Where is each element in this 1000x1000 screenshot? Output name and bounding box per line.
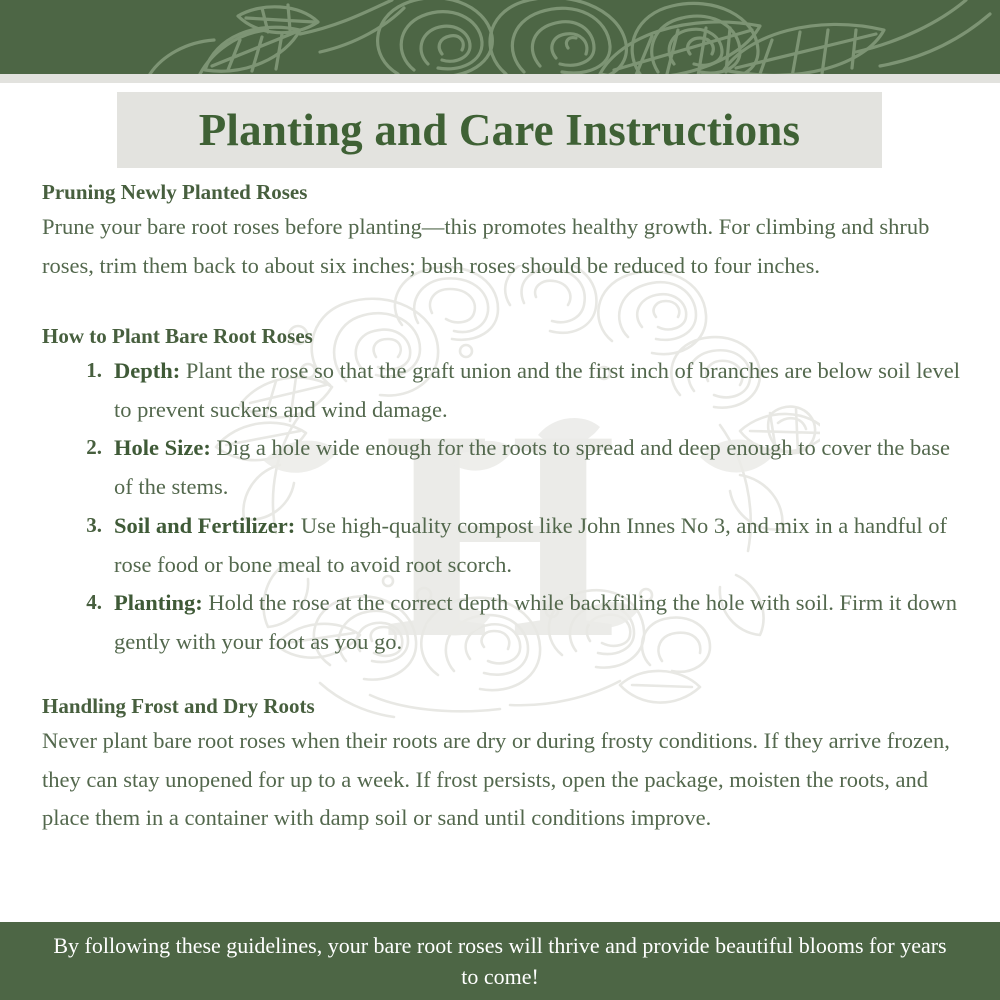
section-spacer-1 — [42, 286, 967, 322]
section-heading-pruning: Pruning Newly Planted Roses — [42, 178, 967, 206]
planting-steps-list: Depth: Plant the rose so that the graft … — [42, 352, 967, 662]
list-item: Depth: Plant the rose so that the graft … — [42, 352, 967, 429]
page-title-box: Planting and Care Instructions — [117, 92, 882, 168]
section-heading-frost-dry-roots: Handling Frost and Dry Roots — [42, 692, 967, 720]
list-item: Hole Size: Dig a hole wide enough for th… — [42, 429, 967, 506]
step-text: Hold the rose at the correct depth while… — [114, 590, 957, 654]
section-how-to-plant: How to Plant Bare Root Roses Depth: Plan… — [42, 322, 967, 662]
section-paragraph-pruning: Prune your bare root roses before planti… — [42, 208, 967, 285]
step-label: Planting: — [114, 590, 203, 615]
section-pruning: Pruning Newly Planted Roses Prune your b… — [42, 178, 967, 286]
list-item: Planting: Hold the rose at the correct d… — [42, 584, 967, 661]
document-content: Pruning Newly Planted Roses Prune your b… — [42, 178, 967, 838]
footer-message: By following these guidelines, your bare… — [50, 930, 950, 992]
header-banner — [0, 0, 1000, 74]
header-divider-strip — [0, 74, 1000, 83]
footer-banner: By following these guidelines, your bare… — [0, 922, 1000, 1000]
section-spacer-2 — [42, 662, 967, 692]
rose-and-leaves-line-art-icon — [0, 0, 1000, 74]
planting-care-instructions-page: { "colors": { "banner_green": "#4d6645",… — [0, 0, 1000, 1000]
step-text: Dig a hole wide enough for the roots to … — [114, 435, 950, 499]
section-heading-how-to-plant: How to Plant Bare Root Roses — [42, 322, 967, 350]
step-label: Hole Size: — [114, 435, 211, 460]
section-frost-dry-roots: Handling Frost and Dry Roots Never plant… — [42, 692, 967, 838]
step-text: Plant the rose so that the graft union a… — [114, 358, 960, 422]
step-label: Depth: — [114, 358, 180, 383]
page-title: Planting and Care Instructions — [199, 108, 801, 153]
section-paragraph-frost-dry-roots: Never plant bare root roses when their r… — [42, 722, 967, 838]
list-item: Soil and Fertilizer: Use high-quality co… — [42, 507, 967, 584]
step-label: Soil and Fertilizer: — [114, 513, 295, 538]
